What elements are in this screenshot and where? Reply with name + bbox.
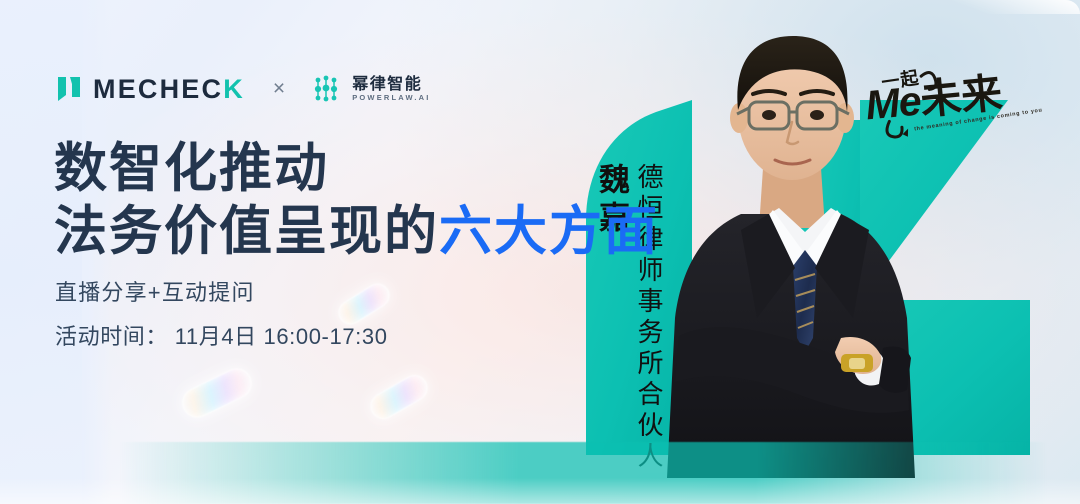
subtitle-block: 直播分享+互动提问 活动时间： 11月4日 16:00-17:30: [55, 281, 388, 349]
logo-separator-x: ×: [271, 77, 287, 101]
campaign-badge: 一起 Me未来 the meaning of change is coming …: [862, 49, 1070, 160]
decorative-capsule: [366, 370, 433, 424]
powerlaw-en-name: POWERLAW.AI: [352, 94, 430, 102]
campaign-badge-latin: Me: [863, 77, 922, 128]
decorative-capsule: [177, 363, 257, 422]
mecheck-logo[interactable]: MECHECK: [56, 75, 245, 103]
mecheck-wordmark-accent: K: [223, 74, 245, 104]
headline-block: 数智化推动 法务价值呈现的六大方面: [54, 138, 654, 263]
headline-line-2-plain: 法务价值呈现的: [54, 202, 439, 261]
brand-logo-row: MECHECK × 幂律智能 POWERLAW.AI: [56, 74, 431, 104]
subtitle-format: 直播分享+互动提问: [55, 281, 388, 305]
powerlaw-cn-name: 幂律智能: [352, 77, 430, 93]
bottom-fade: [0, 478, 1080, 504]
headline-line-2-accent: 六大方面: [439, 202, 659, 261]
mecheck-wordmark: MECHECK: [93, 76, 245, 103]
webinar-poster: 魏嘉 德恒律师事务所合伙人 一起 Me未来 the meaning of cha…: [0, 0, 1080, 504]
headline-line-2: 法务价值呈现的六大方面: [54, 201, 654, 264]
powerlaw-nodes-icon: [313, 74, 343, 104]
powerlaw-logo[interactable]: 幂律智能 POWERLAW.AI: [313, 74, 430, 104]
subtitle-datetime: 活动时间： 11月4日 16:00-17:30: [55, 325, 388, 349]
mecheck-wordmark-main: MECHEC: [93, 74, 223, 104]
mecheck-m-mark-icon: [56, 75, 82, 103]
headline-line-1: 数智化推动: [54, 138, 654, 201]
